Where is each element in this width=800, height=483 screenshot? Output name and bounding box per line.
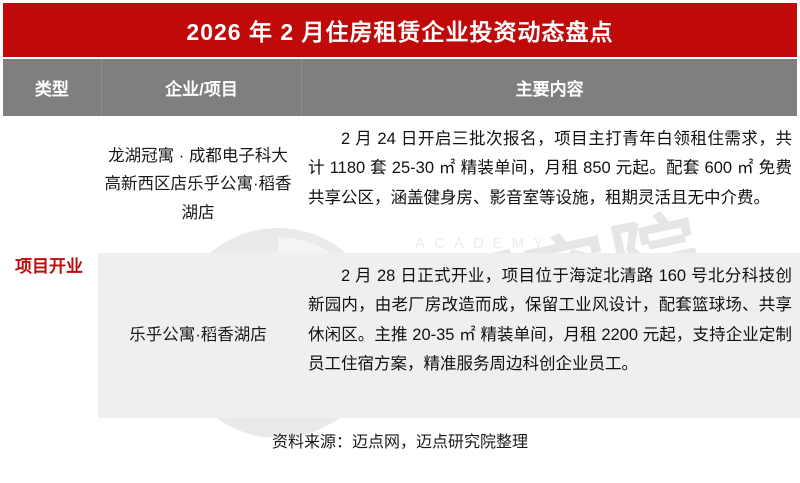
page-title: 2026 年 2 月住房租赁企业投资动态盘点: [186, 13, 613, 47]
cell-project: 乐乎公寓·稻香湖店: [98, 253, 298, 418]
cell-type-group-label: 项目开业: [0, 116, 98, 418]
table-row: 龙湖冠寓 · 成都电子科大高新西区店乐乎公寓·稻香湖店 2 月 24 日开启三批…: [0, 116, 800, 253]
column-header-type: 类型: [3, 75, 101, 100]
table-row: 乐乎公寓·稻香湖店 2 月 28 日正式开业，项目位于海淀北清路 160 号北分…: [0, 253, 800, 418]
cell-content: 2 月 28 日正式开业，项目位于海淀北清路 160 号北分科技创新园内，由老厂…: [298, 253, 800, 418]
cell-content: 2 月 24 日开启三批次报名，项目主打青年白领租住需求，共计 1180 套 2…: [298, 116, 800, 253]
cell-project: 龙湖冠寓 · 成都电子科大高新西区店乐乎公寓·稻香湖店: [98, 116, 298, 253]
report-table-page: 迈点研究院 ACADEMY 2026 年 2 月住房租赁企业投资动态盘点 类型 …: [0, 0, 800, 483]
column-header-content: 主要内容: [302, 75, 797, 100]
report-title-bar: 2026 年 2 月住房租赁企业投资动态盘点: [3, 3, 797, 57]
table-header-row: 类型 企业/项目 主要内容: [3, 59, 797, 116]
source-note: 资料来源：迈点网，迈点研究院整理: [0, 428, 800, 452]
table-body: 龙湖冠寓 · 成都电子科大高新西区店乐乎公寓·稻香湖店 2 月 24 日开启三批…: [0, 116, 800, 418]
column-header-project: 企业/项目: [102, 75, 302, 100]
